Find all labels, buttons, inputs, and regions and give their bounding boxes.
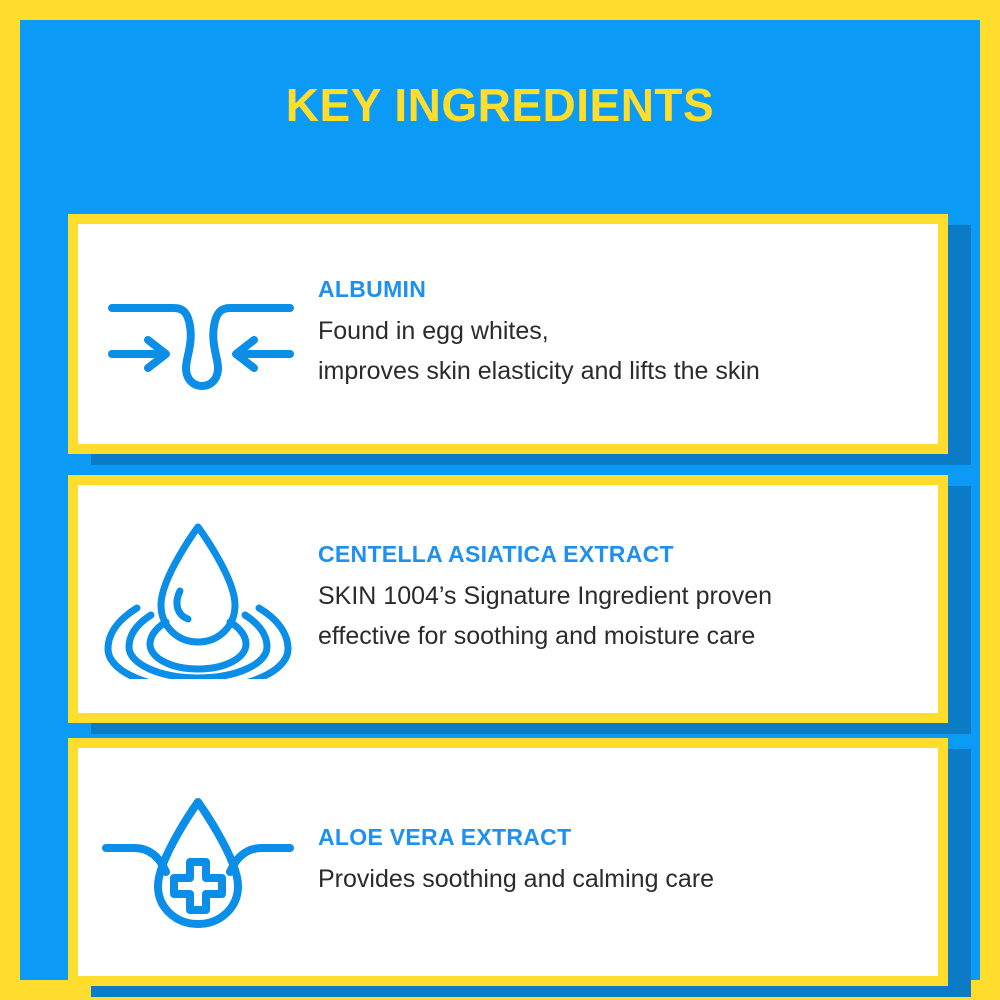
ingredient-card-aloe-vera[interactable]: ALOE VERA EXTRACT Provides soothing and …	[48, 718, 928, 966]
description-line: Found in egg whites,	[318, 312, 918, 352]
ingredient-name: ALBUMIN	[318, 277, 918, 302]
water-droplet-ripple-icon	[78, 519, 318, 679]
ingredient-name: ALOE VERA EXTRACT	[318, 825, 918, 850]
ingredient-description: Provides soothing and calming care	[318, 860, 918, 900]
ingredient-description: Found in egg whites, improves skin elast…	[318, 312, 918, 391]
card-body: CENTELLA ASIATICA EXTRACT SKIN 1004’s Si…	[68, 475, 948, 723]
ingredient-description: SKIN 1004’s Signature Ingredient proven …	[318, 577, 918, 656]
card-body: ALBUMIN Found in egg whites, improves sk…	[68, 214, 948, 454]
pore-tightening-icon	[78, 274, 318, 394]
ingredient-name: CENTELLA ASIATICA EXTRACT	[318, 542, 918, 567]
ingredient-card-centella[interactable]: CENTELLA ASIATICA EXTRACT SKIN 1004’s Si…	[48, 455, 928, 703]
blue-panel: KEY INGREDIENTS	[20, 20, 980, 980]
ingredient-text: ALOE VERA EXTRACT Provides soothing and …	[318, 825, 938, 900]
description-line: SKIN 1004’s Signature Ingredient proven	[318, 577, 918, 617]
description-line: Provides soothing and calming care	[318, 860, 918, 900]
ingredient-card-albumin[interactable]: ALBUMIN Found in egg whites, improves sk…	[48, 194, 928, 434]
card-body: ALOE VERA EXTRACT Provides soothing and …	[68, 738, 948, 986]
description-line: improves skin elasticity and lifts the s…	[318, 352, 918, 392]
description-line: effective for soothing and moisture care	[318, 617, 918, 657]
droplet-medical-cross-icon	[78, 792, 318, 932]
page-title: KEY INGREDIENTS	[20, 82, 980, 128]
ingredient-text: ALBUMIN Found in egg whites, improves sk…	[318, 277, 938, 391]
ingredients-infographic: KEY INGREDIENTS	[0, 0, 1000, 1000]
ingredient-text: CENTELLA ASIATICA EXTRACT SKIN 1004’s Si…	[318, 542, 938, 656]
